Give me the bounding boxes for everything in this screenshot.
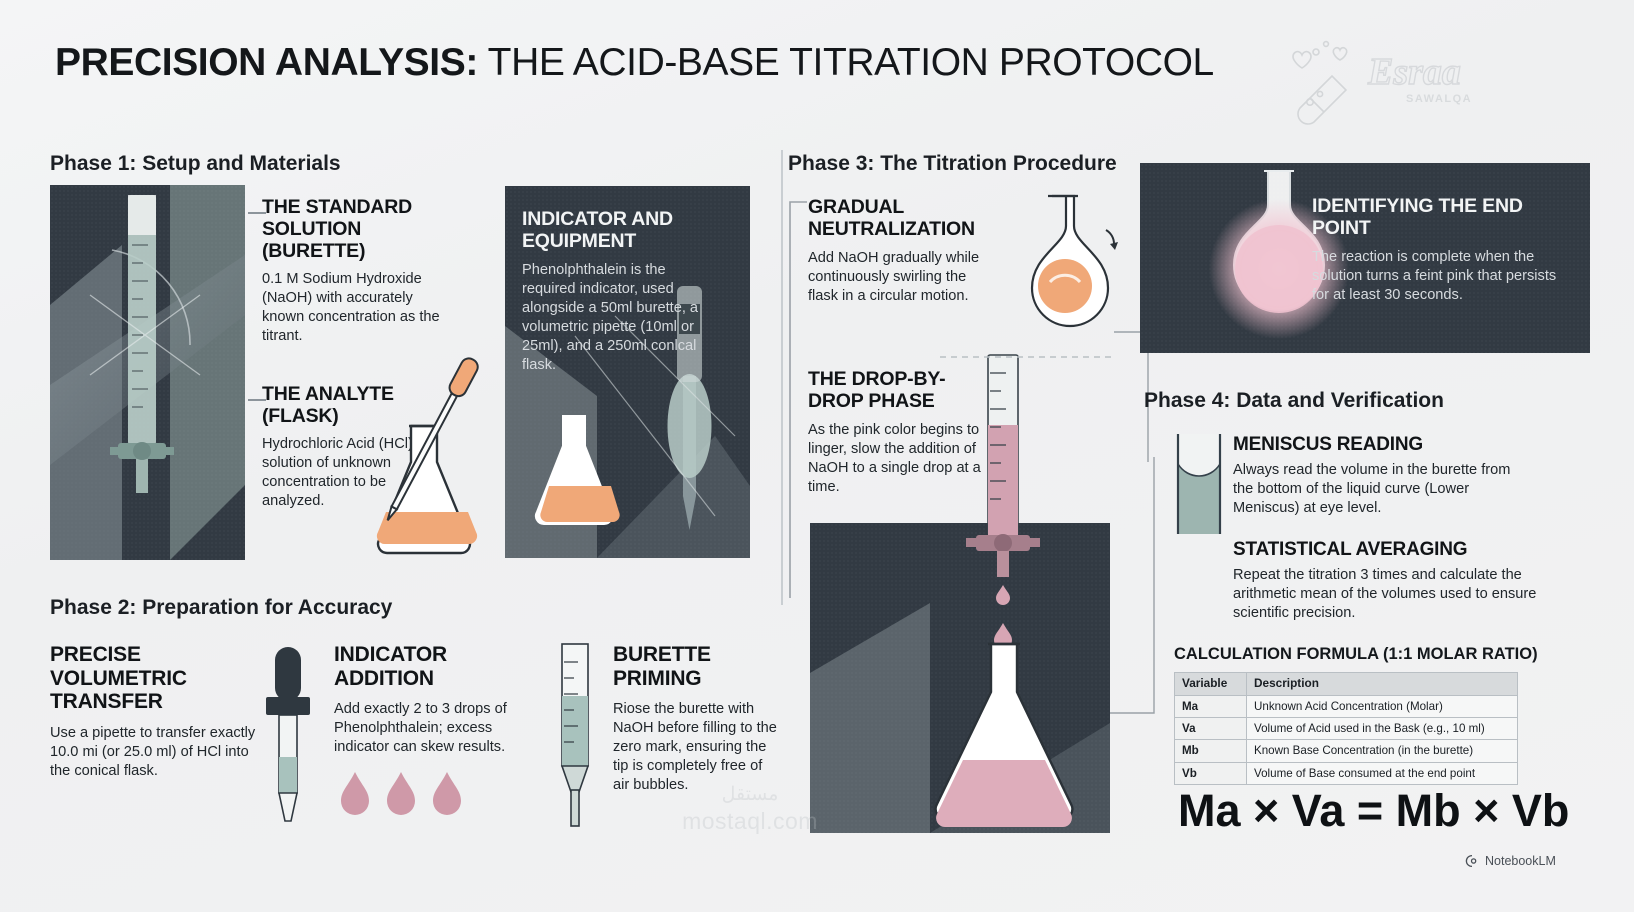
column-header-description: Description [1247, 673, 1518, 696]
card-indicator-addition-body: Add exactly 2 to 3 drops of Phenolphthal… [334, 700, 534, 757]
meniscus-icon [1172, 434, 1226, 534]
cell-description: Known Base Concentration (in the burette… [1247, 740, 1518, 762]
artist-sub-text: SAWALQA [1406, 93, 1472, 105]
artist-name-text: Esraa [1367, 51, 1461, 93]
card-meniscus-title: MENISCUS READING [1233, 434, 1533, 455]
phase-2-heading: Phase 2: Preparation for Accuracy [50, 596, 392, 620]
calculation-formula-heading: CALCULATION FORMULA (1:1 MOLAR RATIO) [1174, 645, 1538, 664]
card-burette-priming-body: Riose the burette with NaOH before filli… [613, 700, 781, 795]
table-row: Vb Volume of Base consumed at the end po… [1175, 762, 1518, 784]
end-point-panel: IDENTIFYING THE END POINT The reaction i… [1140, 163, 1590, 353]
leader-flask-to-phase4 [1108, 455, 1168, 715]
column-divider [781, 150, 783, 605]
titration-flask [925, 640, 1115, 840]
pipette-into-flask-illustration [355, 360, 510, 560]
page-title-bold: PRECISION ANALYSIS: [55, 41, 478, 84]
swirling-flask-illustration [1000, 190, 1130, 330]
mostaql-watermark-arabic: مستقل [640, 783, 860, 806]
card-statistical-averaging-body: Repeat the titration 3 times and calcula… [1233, 566, 1543, 623]
table-row: Ma Unknown Acid Concentration (Molar) [1175, 695, 1518, 717]
mostaql-watermark-latin: mostaql.com [640, 808, 860, 835]
cell-variable: Ma [1175, 695, 1247, 717]
card-indicator-equipment: INDICATOR AND EQUIPMENT Phenolphthalein … [522, 208, 700, 375]
cell-description: Volume of Base consumed at the end point [1247, 762, 1518, 784]
card-statistical-averaging: STATISTICAL AVERAGING Repeat the titrati… [1233, 539, 1543, 623]
card-gradual-neutralization: GRADUAL NEUTRALIZATION Add NaOH graduall… [808, 196, 988, 306]
card-volumetric-transfer: PRECISE VOLUMETRIC TRANSFER Use a pipett… [50, 643, 265, 781]
page-title: PRECISION ANALYSIS: THE ACID-BASE TITRAT… [55, 41, 1214, 85]
dashed-guide-line [938, 347, 1118, 367]
variables-table: Variable Description Ma Unknown Acid Con… [1174, 672, 1518, 785]
column-header-variable: Variable [1175, 673, 1247, 696]
notebooklm-footer: NotebookLM [1465, 854, 1556, 868]
table-row: Mb Known Base Concentration (in the bure… [1175, 740, 1518, 762]
cell-description: Volume of Acid used in the Bask (e.g., 1… [1247, 717, 1518, 739]
card-burette-priming: BURETTE PRIMING Riose the burette with N… [613, 643, 781, 795]
card-indicator-equipment-title: INDICATOR AND EQUIPMENT [522, 208, 700, 252]
card-gradual-neutralization-body: Add NaOH gradually while continuously sw… [808, 249, 988, 306]
burette-icon [548, 640, 602, 830]
cell-variable: Mb [1175, 740, 1247, 762]
cell-variable: Va [1175, 717, 1247, 739]
infographic-canvas: PRECISION ANALYSIS: THE ACID-BASE TITRAT… [0, 0, 1634, 912]
phase-1-heading: Phase 1: Setup and Materials [50, 152, 341, 176]
card-end-point: IDENTIFYING THE END POINT The reaction i… [1312, 195, 1574, 305]
card-meniscus: MENISCUS READING Always read the volume … [1233, 434, 1533, 518]
burette-setup-illustration [50, 185, 245, 560]
titration-burette [958, 355, 1048, 655]
card-drop-by-drop-title: THE DROP-BY-DROP PHASE [808, 368, 983, 412]
cell-variable: Vb [1175, 762, 1247, 784]
card-drop-by-drop: THE DROP-BY-DROP PHASE As the pink color… [808, 368, 983, 497]
card-drop-by-drop-body: As the pink color begins to linger, slow… [808, 421, 983, 497]
card-indicator-addition: INDICATOR ADDITION Add exactly 2 to 3 dr… [334, 643, 534, 757]
card-burette-priming-title: BURETTE PRIMING [613, 643, 781, 690]
phase-3-heading: Phase 3: The Titration Procedure [788, 152, 1117, 176]
pipette-icon [258, 645, 318, 825]
card-standard-solution: THE STANDARD SOLUTION (BURETTE) 0.1 M So… [262, 196, 444, 346]
phase-4-heading: Phase 4: Data and Verification [1144, 389, 1444, 413]
card-volumetric-transfer-body: Use a pipette to transfer exactly 10.0 m… [50, 724, 265, 781]
notebooklm-icon [1465, 854, 1479, 868]
card-gradual-neutralization-title: GRADUAL NEUTRALIZATION [808, 196, 988, 240]
card-end-point-title: IDENTIFYING THE END POINT [1312, 195, 1574, 239]
card-standard-solution-title: THE STANDARD SOLUTION (BURETTE) [262, 196, 444, 262]
indicator-equipment-panel: INDICATOR AND EQUIPMENT Phenolphthalein … [505, 186, 750, 558]
leader-bracket-phase3 [786, 200, 808, 600]
mostaql-watermark: مستقل mostaql.com [640, 783, 860, 835]
variables-table-body: Ma Unknown Acid Concentration (Molar) Va… [1175, 695, 1518, 784]
card-indicator-addition-title: INDICATOR ADDITION [334, 643, 534, 690]
card-indicator-equipment-body: Phenolphthalein is the required indicato… [522, 261, 700, 375]
notebooklm-label: NotebookLM [1485, 854, 1556, 868]
card-volumetric-transfer-title: PRECISE VOLUMETRIC TRANSFER [50, 643, 265, 714]
card-meniscus-body: Always read the volume in the burette fr… [1233, 461, 1533, 518]
card-standard-solution-body: 0.1 M Sodium Hydroxide (NaOH) with accur… [262, 270, 444, 346]
indicator-drops-icon [333, 768, 483, 826]
page-title-rest: THE ACID-BASE TITRATION PROTOCOL [478, 41, 1214, 84]
table-header-row: Variable Description [1175, 673, 1518, 696]
card-end-point-body: The reaction is complete when the soluti… [1312, 248, 1574, 305]
titration-formula: Ma × Va = Mb × Vb [1178, 785, 1569, 837]
cell-description: Unknown Acid Concentration (Molar) [1247, 695, 1518, 717]
artist-watermark: Esraa SAWALQA [1280, 34, 1500, 112]
table-row: Va Volume of Acid used in the Bask (e.g.… [1175, 717, 1518, 739]
card-statistical-averaging-title: STATISTICAL AVERAGING [1233, 539, 1543, 560]
